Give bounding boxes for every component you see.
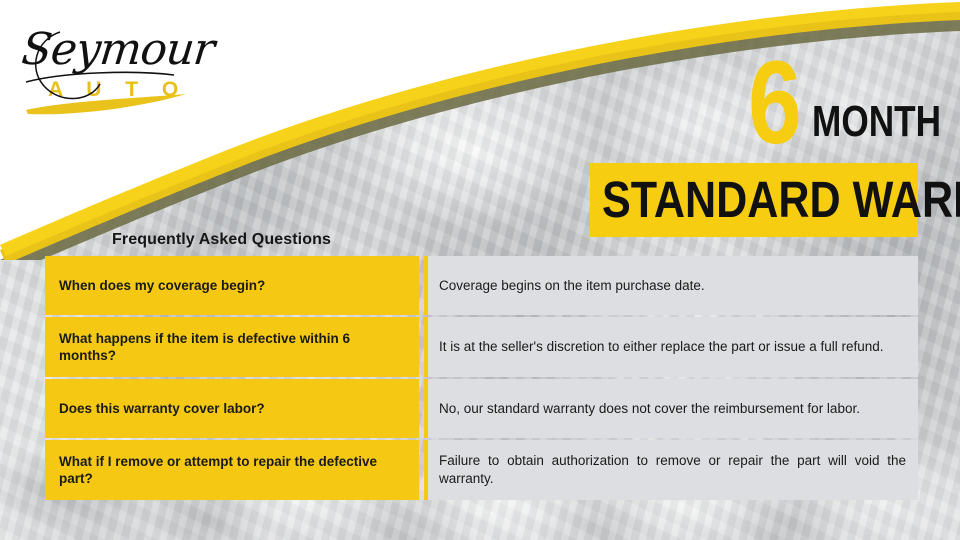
seymour-auto-logo: Seymour A U T O xyxy=(18,18,208,113)
table-row: What happens if the item is defective wi… xyxy=(45,317,918,377)
standard-warranty-banner: STANDARD WARRANTY xyxy=(590,163,918,237)
faq-question-cell: What happens if the item is defective wi… xyxy=(45,317,419,377)
table-row: When does my coverage begin? Coverage be… xyxy=(45,256,918,315)
logo-wordmark: Seymour xyxy=(19,24,216,75)
faq-answer-cell: Failure to obtain authorization to remov… xyxy=(424,440,918,500)
faq-question-cell: What if I remove or attempt to repair th… xyxy=(45,440,419,500)
faq-section-title: Frequently Asked Questions xyxy=(112,231,331,249)
logo-yellow-swash xyxy=(20,92,195,118)
table-row: What if I remove or attempt to repair th… xyxy=(45,440,918,500)
faq-question-cell: When does my coverage begin? xyxy=(45,256,419,315)
faq-question-cell: Does this warranty cover labor? xyxy=(45,379,419,438)
warranty-duration-unit: MONTH xyxy=(812,100,941,144)
faq-table: When does my coverage begin? Coverage be… xyxy=(45,256,918,502)
faq-answer-cell: Coverage begins on the item purchase dat… xyxy=(424,256,918,315)
table-row: Does this warranty cover labor? No, our … xyxy=(45,379,918,438)
faq-answer-cell: It is at the seller's discretion to eith… xyxy=(424,317,918,377)
faq-answer-cell: No, our standard warranty does not cover… xyxy=(424,379,918,438)
warranty-duration-number: 6 xyxy=(748,48,800,158)
standard-warranty-label: STANDARD WARRANTY xyxy=(602,173,866,227)
warranty-slide: Seymour A U T O 6 MONTH STANDARD WARRANT… xyxy=(0,0,960,540)
